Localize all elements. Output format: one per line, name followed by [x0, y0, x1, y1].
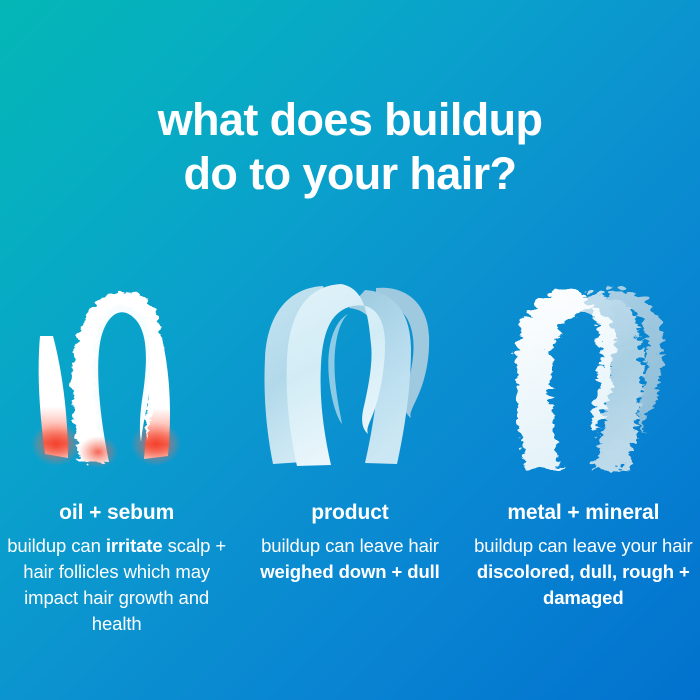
poster-canvas: what does buildup do to your hair?: [0, 0, 700, 700]
page-title: what does buildup do to your hair?: [0, 93, 700, 201]
buildup-column-metal-mineral: metal + mineral buildup can leave your h…: [467, 258, 700, 611]
damaged-hair-strands-illustration: [478, 258, 688, 473]
headline-line-1: what does buildup: [158, 94, 543, 145]
column-body-product: buildup can leave hair weighed down + du…: [237, 533, 462, 585]
column-body-oil-sebum: buildup can irritate scalp + hair follic…: [1, 533, 233, 637]
weighed-down-hair-strands-illustration: [245, 258, 455, 473]
buildup-column-oil-sebum: oil + sebum buildup can irritate scalp +…: [0, 258, 233, 637]
column-title-oil-sebum: oil + sebum: [59, 500, 174, 525]
buildup-column-product: product buildup can leave hair weighed d…: [233, 258, 466, 585]
column-body-metal-mineral: buildup can leave your hair discolored, …: [471, 533, 695, 611]
greasy-hair-strands-illustration: [12, 258, 222, 473]
buildup-types-row: oil + sebum buildup can irritate scalp +…: [0, 258, 700, 658]
column-title-metal-mineral: metal + mineral: [507, 500, 659, 525]
headline-line-2: do to your hair?: [0, 147, 700, 201]
column-title-product: product: [311, 500, 388, 525]
